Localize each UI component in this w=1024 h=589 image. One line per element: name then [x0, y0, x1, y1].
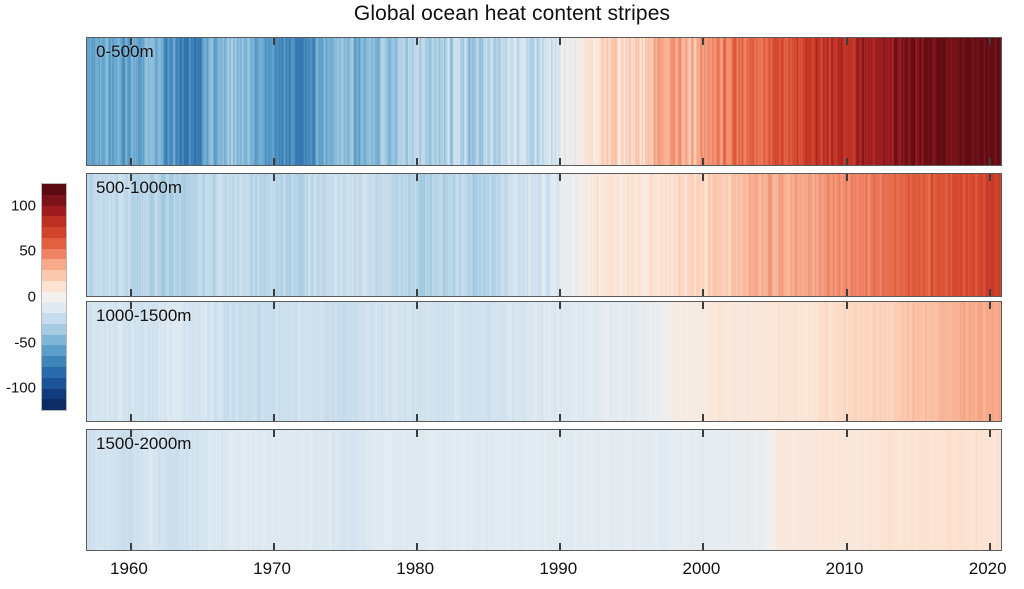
- x-axis-label: 1980: [396, 559, 434, 579]
- x-axis-tick: [130, 543, 132, 551]
- x-axis-tick: [559, 37, 561, 45]
- x-axis: 1960197019801990200020102020: [86, 551, 1002, 589]
- colorbar-gradient: [41, 183, 67, 411]
- colorbar-band: [42, 249, 66, 260]
- y-axis-tick: [86, 236, 87, 238]
- x-axis-tick: [130, 301, 132, 309]
- x-axis-label: 2010: [826, 559, 864, 579]
- x-axis-tick: [559, 429, 561, 437]
- x-axis-label: 1970: [253, 559, 291, 579]
- x-axis-label: 1960: [110, 559, 148, 579]
- y-axis-tick: [86, 342, 87, 344]
- colorbar-band: [42, 345, 66, 356]
- y-axis-tick: [1001, 342, 1002, 344]
- colorbar: 100500-50-100: [0, 183, 86, 413]
- colorbar-band: [42, 270, 66, 281]
- x-axis-tick: [273, 289, 275, 297]
- x-axis-tick: [416, 429, 418, 437]
- y-axis-tick: [86, 215, 87, 217]
- colorbar-band: [42, 335, 66, 346]
- y-axis-tick: [86, 471, 87, 473]
- colorbar-band: [42, 389, 66, 400]
- colorbar-band: [42, 399, 66, 410]
- y-axis-tick: [1001, 124, 1002, 126]
- y-axis-tick: [1001, 363, 1002, 365]
- colorbar-tick-label: 0: [28, 289, 36, 306]
- y-axis-tick: [1001, 491, 1002, 493]
- y-axis-tick: [86, 146, 87, 148]
- y-axis-tick: [86, 383, 87, 385]
- colorbar-band: [42, 184, 66, 195]
- colorbar-band: [42, 238, 66, 249]
- ocean-heat-stripes-figure: Global ocean heat content stripes 100500…: [0, 0, 1024, 589]
- x-axis-tick: [846, 543, 848, 551]
- x-axis-tick: [702, 414, 704, 422]
- x-axis-tick: [989, 37, 991, 45]
- y-axis-tick: [86, 403, 87, 405]
- x-axis-tick: [702, 543, 704, 551]
- x-axis-tick: [702, 301, 704, 309]
- y-axis-tick: [86, 491, 87, 493]
- x-axis-tick: [130, 429, 132, 437]
- stripe-canvas: [87, 174, 1001, 296]
- x-axis-tick: [273, 37, 275, 45]
- colorbar-band: [42, 324, 66, 335]
- colorbar-tick-label: -50: [14, 334, 36, 351]
- x-axis-tick: [130, 158, 132, 166]
- y-axis-tick: [86, 363, 87, 365]
- colorbar-band: [42, 356, 66, 367]
- x-axis-tick: [273, 543, 275, 551]
- x-axis-tick: [989, 158, 991, 166]
- y-axis-tick: [1001, 257, 1002, 259]
- y-axis-tick: [86, 60, 87, 62]
- x-axis-tick: [559, 301, 561, 309]
- panel-0-500m[interactable]: 0-500m: [86, 37, 1002, 166]
- y-axis-tick: [86, 511, 87, 513]
- x-axis-tick: [702, 429, 704, 437]
- colorbar-band: [42, 227, 66, 238]
- y-axis-tick: [1001, 450, 1002, 452]
- x-axis-tick: [559, 543, 561, 551]
- y-axis-tick: [86, 124, 87, 126]
- y-axis-tick: [1001, 322, 1002, 324]
- y-axis-tick: [1001, 60, 1002, 62]
- y-axis-tick: [1001, 195, 1002, 197]
- x-axis-label: 2000: [683, 559, 721, 579]
- x-axis-tick: [416, 173, 418, 181]
- stripe-canvas: [87, 302, 1001, 421]
- panel-1500-2000m[interactable]: 1500-2000m: [86, 429, 1002, 551]
- panel-1000-1500m[interactable]: 1000-1500m: [86, 301, 1002, 422]
- colorbar-band: [42, 281, 66, 292]
- x-axis-tick: [989, 289, 991, 297]
- x-axis-tick: [989, 173, 991, 181]
- colorbar-band: [42, 302, 66, 313]
- stripe-canvas: [87, 430, 1001, 550]
- y-axis-tick: [1001, 383, 1002, 385]
- y-axis-tick: [1001, 511, 1002, 513]
- colorbar-band: [42, 259, 66, 270]
- x-axis-label: 2020: [969, 559, 1007, 579]
- x-axis-tick: [559, 158, 561, 166]
- x-axis-tick: [559, 414, 561, 422]
- colorbar-band: [42, 367, 66, 378]
- x-axis-tick: [989, 543, 991, 551]
- colorbar-band: [42, 378, 66, 389]
- x-axis-tick: [702, 37, 704, 45]
- x-axis-tick: [702, 173, 704, 181]
- x-axis-tick: [273, 414, 275, 422]
- y-axis-tick: [1001, 277, 1002, 279]
- y-axis-tick: [1001, 146, 1002, 148]
- x-axis-tick: [702, 289, 704, 297]
- x-axis-tick: [416, 158, 418, 166]
- x-axis-tick: [846, 158, 848, 166]
- x-axis-tick: [273, 173, 275, 181]
- x-axis-tick: [130, 173, 132, 181]
- x-axis-tick: [846, 301, 848, 309]
- stripe-panels: 0-500m500-1000m1000-1500m1500-2000m: [86, 37, 1002, 551]
- x-axis-tick: [416, 543, 418, 551]
- colorbar-band: [42, 292, 66, 303]
- y-axis-tick: [86, 322, 87, 324]
- y-axis-tick: [1001, 532, 1002, 534]
- x-axis-tick: [416, 289, 418, 297]
- x-axis-tick: [130, 414, 132, 422]
- x-axis-tick: [273, 158, 275, 166]
- x-axis-tick: [846, 289, 848, 297]
- y-axis-tick: [86, 277, 87, 279]
- colorbar-band: [42, 313, 66, 324]
- colorbar-tick-label: 100: [11, 197, 36, 214]
- y-axis-tick: [1001, 403, 1002, 405]
- x-axis-tick: [846, 414, 848, 422]
- y-axis-tick: [86, 532, 87, 534]
- x-axis-tick: [273, 429, 275, 437]
- x-axis-tick: [989, 414, 991, 422]
- x-axis-tick: [846, 37, 848, 45]
- x-axis-tick: [130, 289, 132, 297]
- y-axis-tick: [86, 81, 87, 83]
- x-axis-tick: [702, 158, 704, 166]
- x-axis-tick: [846, 173, 848, 181]
- x-axis-tick: [273, 301, 275, 309]
- stripe-canvas: [87, 38, 1001, 165]
- x-axis-tick: [416, 414, 418, 422]
- y-axis-tick: [1001, 215, 1002, 217]
- colorbar-tick-labels: 100500-50-100: [0, 183, 38, 411]
- colorbar-band: [42, 216, 66, 227]
- panel-500-1000m[interactable]: 500-1000m: [86, 173, 1002, 297]
- y-axis-tick: [1001, 81, 1002, 83]
- x-axis-tick: [989, 429, 991, 437]
- colorbar-band: [42, 206, 66, 217]
- page-title: Global ocean heat content stripes: [0, 2, 1024, 26]
- x-axis-tick: [559, 289, 561, 297]
- colorbar-band: [42, 195, 66, 206]
- y-axis-tick: [1001, 471, 1002, 473]
- y-axis-tick: [86, 103, 87, 105]
- x-axis-label: 1990: [539, 559, 577, 579]
- x-axis-tick: [416, 301, 418, 309]
- x-axis-tick: [130, 37, 132, 45]
- x-axis-tick: [989, 301, 991, 309]
- x-axis-tick: [416, 37, 418, 45]
- x-axis-tick: [846, 429, 848, 437]
- y-axis-tick: [1001, 236, 1002, 238]
- colorbar-tick-label: 50: [19, 243, 36, 260]
- y-axis-tick: [1001, 103, 1002, 105]
- y-axis-tick: [86, 257, 87, 259]
- y-axis-tick: [86, 450, 87, 452]
- y-axis-tick: [86, 195, 87, 197]
- colorbar-tick-label: -100: [6, 380, 36, 397]
- x-axis-tick: [559, 173, 561, 181]
